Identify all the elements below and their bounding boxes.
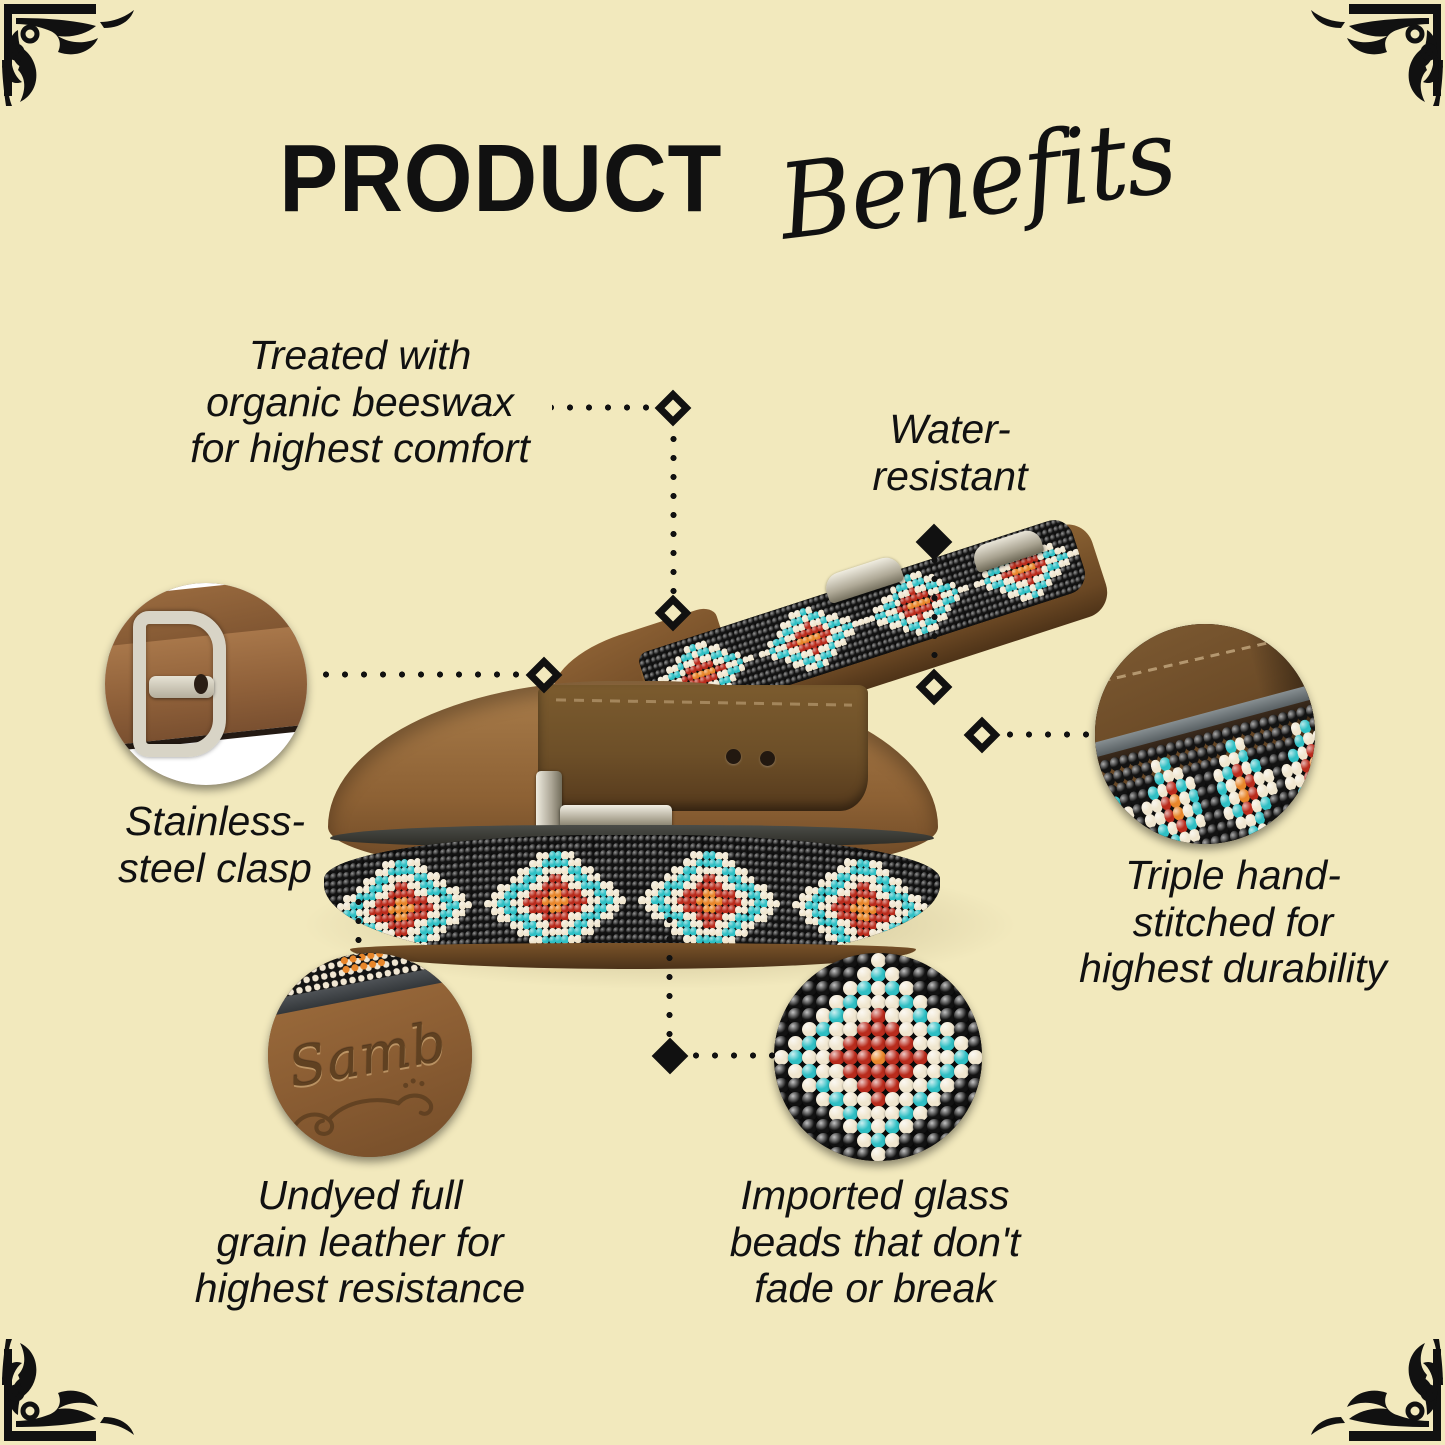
glass-bead: [829, 1092, 844, 1107]
glass-bead: [774, 1022, 789, 1037]
glass-bead: [927, 1133, 942, 1148]
glass-bead: [954, 981, 969, 996]
glass-bead: [843, 1036, 858, 1051]
glass-bead: [968, 1119, 982, 1134]
glass-bead: [857, 967, 872, 982]
glass-bead: [954, 953, 969, 968]
glass-bead: [829, 1133, 844, 1148]
glass-bead: [829, 1064, 844, 1079]
glass-bead: [940, 981, 955, 996]
glass-bead: [885, 995, 900, 1010]
glass-bead: [843, 1119, 858, 1134]
glass-bead: [968, 1092, 982, 1107]
glass-bead: [913, 1008, 928, 1023]
glass-bead: [857, 1147, 872, 1161]
glass-bead: [954, 1064, 969, 1079]
glass-bead: [913, 953, 928, 968]
glass-bead: [774, 981, 789, 996]
glass-bead: [871, 1119, 886, 1134]
glass-bead: [885, 1022, 900, 1037]
glass-bead: [802, 1008, 817, 1023]
glass-bead: [954, 967, 969, 982]
glass-bead: [954, 1078, 969, 1093]
glass-bead: [913, 1050, 928, 1065]
glass-bead: [968, 1022, 982, 1037]
glass-bead: [954, 1022, 969, 1037]
glass-bead: [913, 1147, 928, 1161]
glass-bead: [954, 1008, 969, 1023]
glass-bead: [968, 1147, 982, 1161]
glass-bead: [940, 1022, 955, 1037]
glass-bead: [968, 1106, 982, 1121]
glass-bead: [774, 967, 789, 982]
glass-bead: [774, 1064, 789, 1079]
glass-bead: [899, 1119, 914, 1134]
glass-bead: [843, 1022, 858, 1037]
glass-bead: [927, 995, 942, 1010]
glass-bead: [802, 1036, 817, 1051]
glass-bead: [871, 1106, 886, 1121]
glass-bead: [899, 1022, 914, 1037]
collar-lower-punch-hole: [726, 749, 741, 764]
glass-bead: [927, 1106, 942, 1121]
callout-beeswax: Treated with organic beeswax for highest…: [150, 332, 570, 472]
glass-bead: [816, 1050, 831, 1065]
glass-bead: [885, 1036, 900, 1051]
glass-bead: [843, 1008, 858, 1023]
glass-bead: [802, 981, 817, 996]
glass-bead: [871, 1133, 886, 1148]
glass-bead: [816, 1119, 831, 1134]
glass-bead: [885, 1147, 900, 1161]
glass-bead: [954, 1036, 969, 1051]
glass-bead: [913, 1036, 928, 1051]
glass-bead: [954, 1092, 969, 1107]
glass-bead: [899, 1050, 914, 1065]
glass-bead: [802, 995, 817, 1010]
glass-bead: [802, 1106, 817, 1121]
glass-bead: [940, 995, 955, 1010]
glass-bead: [857, 1050, 872, 1065]
glass-bead: [843, 953, 858, 968]
glass-bead: [871, 981, 886, 996]
glass-bead: [871, 967, 886, 982]
page-title-script: Benefits: [772, 94, 1180, 263]
glass-bead: [843, 981, 858, 996]
glass-bead: [927, 1078, 942, 1093]
glass-bead: [788, 1133, 803, 1148]
glass-bead: [816, 1064, 831, 1079]
glass-bead: [885, 1133, 900, 1148]
glass-bead: [871, 1022, 886, 1037]
glass-bead: [899, 1106, 914, 1121]
glass-bead: [885, 1092, 900, 1107]
glass-bead: [940, 1078, 955, 1093]
connector-clasp-horizontal: [310, 671, 532, 678]
glass-bead: [913, 967, 928, 982]
callout-imported-glass-beads: Imported glass beads that don't fade or …: [690, 1172, 1060, 1312]
glass-bead: [927, 1008, 942, 1023]
glass-bead: [843, 1092, 858, 1107]
glass-bead: [871, 1036, 886, 1051]
glass-bead: [857, 1106, 872, 1121]
glass-bead: [829, 1022, 844, 1037]
glass-bead: [843, 1147, 858, 1161]
glass-bead: [802, 1147, 817, 1161]
glass-bead: [871, 1050, 886, 1065]
glass-bead: [774, 1036, 789, 1051]
glass-bead: [816, 1106, 831, 1121]
glass-bead: [940, 1133, 955, 1148]
glass-bead: [802, 953, 817, 968]
glass-bead: [885, 953, 900, 968]
glass-bead: [913, 1078, 928, 1093]
glass-bead: [816, 1022, 831, 1037]
glass-bead: [788, 1092, 803, 1107]
callout-full-grain-leather: Undyed full grain leather for highest re…: [150, 1172, 570, 1312]
glass-bead: [968, 981, 982, 996]
glass-bead: [788, 1050, 803, 1065]
glass-bead: [816, 981, 831, 996]
inset-hand-stitching-closeup: [1095, 624, 1315, 844]
glass-bead: [788, 967, 803, 982]
glass-bead: [899, 1147, 914, 1161]
glass-bead: [968, 1064, 982, 1079]
collar-lower-buckle-keeper: [536, 771, 562, 833]
page-title-primary: PRODUCT: [279, 124, 722, 234]
glass-bead: [899, 981, 914, 996]
glass-bead: [774, 1119, 789, 1134]
glass-bead: [885, 1119, 900, 1134]
glass-bead: [913, 1064, 928, 1079]
glass-bead: [927, 1036, 942, 1051]
glass-bead: [829, 1119, 844, 1134]
glass-bead: [788, 1106, 803, 1121]
glass-bead: [968, 1050, 982, 1065]
glass-bead: [829, 1147, 844, 1161]
glass-bead: [913, 1022, 928, 1037]
glass-bead: [857, 1133, 872, 1148]
glass-bead: [885, 1064, 900, 1079]
glass-bead: [968, 953, 982, 968]
glass-bead: [829, 1008, 844, 1023]
glass-bead: [843, 1064, 858, 1079]
glass-bead: [843, 967, 858, 982]
glass-bead: [816, 1133, 831, 1148]
glass-bead: [968, 995, 982, 1010]
connector-beeswax-vertical: [670, 424, 677, 606]
glass-bead: [802, 1078, 817, 1093]
glass-bead: [927, 1119, 942, 1134]
glass-bead: [857, 1064, 872, 1079]
callout-stainless-clasp: Stainless- steel clasp: [70, 798, 360, 891]
glass-bead: [940, 1064, 955, 1079]
glass-bead: [774, 953, 789, 968]
glass-bead: [829, 981, 844, 996]
glass-bead: [857, 981, 872, 996]
glass-bead: [802, 1064, 817, 1079]
glass-bead: [954, 1050, 969, 1065]
glass-bead: [871, 1078, 886, 1093]
glass-bead: [899, 967, 914, 982]
glass-bead: [885, 1008, 900, 1023]
connector-water-resistant-vertical: [931, 558, 938, 676]
connector-leather-vertical: [355, 884, 362, 958]
page-title: PRODUCTBenefits: [0, 118, 1445, 240]
glass-bead: [816, 953, 831, 968]
glass-bead: [788, 1022, 803, 1037]
glass-bead: [913, 981, 928, 996]
glass-bead: [843, 995, 858, 1010]
glass-bead: [899, 995, 914, 1010]
glass-bead: [857, 1008, 872, 1023]
glass-bead: [871, 1092, 886, 1107]
glass-bead: [940, 1119, 955, 1134]
glass-bead: [899, 1064, 914, 1079]
glass-bead: [802, 1119, 817, 1134]
glass-bead: [843, 1078, 858, 1093]
glass-bead: [788, 1078, 803, 1093]
glass-bead: [954, 1147, 969, 1161]
glass-bead: [774, 1106, 789, 1121]
glass-bead: [927, 1022, 942, 1037]
glass-bead: [885, 1106, 900, 1121]
inset-glass-beads-closeup: [774, 953, 982, 1161]
glass-bead: [788, 1147, 803, 1161]
glass-bead: [802, 1092, 817, 1107]
glass-bead: [927, 1064, 942, 1079]
glass-bead: [899, 1078, 914, 1093]
glass-bead: [802, 1133, 817, 1148]
glass-bead: [843, 1133, 858, 1148]
glass-bead: [802, 1022, 817, 1037]
glass-bead: [871, 995, 886, 1010]
glass-bead: [927, 1050, 942, 1065]
glass-bead: [788, 1119, 803, 1134]
glass-bead: [788, 1064, 803, 1079]
diamond-marker-beads: [652, 1038, 689, 1075]
inset-embossed-leather-logo: Samb: [268, 953, 472, 1157]
glass-bead: [913, 995, 928, 1010]
glass-bead: [857, 995, 872, 1010]
glass-bead: [774, 1147, 789, 1161]
corner-flourish-ornament-bottom-right: [1285, 1285, 1445, 1445]
diamond-marker-beeswax: [655, 390, 692, 427]
glass-bead: [899, 953, 914, 968]
glass-bead: [954, 995, 969, 1010]
glass-bead: [927, 1092, 942, 1107]
glass-bead: [774, 1133, 789, 1148]
callout-triple-stitched: Triple hand- stitched for highest durabi…: [1058, 852, 1408, 992]
glass-bead: [927, 953, 942, 968]
glass-bead: [954, 1119, 969, 1134]
connector-beads-horizontal: [688, 1052, 780, 1059]
connector-beads-vertical: [666, 908, 673, 1046]
glass-bead: [788, 953, 803, 968]
connector-stitched-horizontal: [999, 731, 1097, 738]
glass-bead: [899, 1036, 914, 1051]
glass-bead: [913, 1092, 928, 1107]
corner-flourish-ornament-bottom-left: [0, 1285, 160, 1445]
glass-bead: [940, 1106, 955, 1121]
glass-bead: [968, 1036, 982, 1051]
glass-bead: [899, 1092, 914, 1107]
glass-bead: [829, 1036, 844, 1051]
glass-bead: [857, 1022, 872, 1037]
glass-bead: [816, 1092, 831, 1107]
collar-lower: [310, 675, 950, 975]
glass-bead: [913, 1106, 928, 1121]
product-photo-beaded-dog-collar: [300, 555, 1140, 975]
glass-bead: [774, 995, 789, 1010]
glass-bead: [885, 1078, 900, 1093]
glass-bead: [927, 981, 942, 996]
glass-bead: [829, 1106, 844, 1121]
collar-lower-punch-hole: [760, 751, 775, 766]
glass-bead: [940, 1036, 955, 1051]
glass-bead: [871, 1147, 886, 1161]
glass-bead: [968, 1133, 982, 1148]
glass-bead: [885, 967, 900, 982]
glass-bead: [885, 1050, 900, 1065]
glass-bead: [829, 953, 844, 968]
glass-bead: [788, 1008, 803, 1023]
glass-bead: [774, 1078, 789, 1093]
glass-bead: [968, 967, 982, 982]
glass-bead: [871, 1064, 886, 1079]
glass-bead: [968, 1078, 982, 1093]
glass-bead: [843, 1106, 858, 1121]
glass-bead: [940, 1092, 955, 1107]
glass-bead: [954, 1106, 969, 1121]
glass-bead: [857, 953, 872, 968]
glass-bead: [940, 1147, 955, 1161]
callout-water-resistant: Water- resistant: [800, 406, 1100, 499]
glass-bead: [788, 995, 803, 1010]
glass-bead: [913, 1133, 928, 1148]
glass-bead: [940, 1050, 955, 1065]
glass-bead: [940, 953, 955, 968]
glass-bead: [816, 1078, 831, 1093]
glass-bead: [802, 967, 817, 982]
glass-bead: [816, 995, 831, 1010]
glass-bead: [968, 1008, 982, 1023]
glass-bead: [788, 1036, 803, 1051]
glass-bead: [857, 1092, 872, 1107]
glass-bead: [954, 1133, 969, 1148]
inset-stainless-steel-clasp: [105, 583, 307, 785]
glass-bead: [927, 967, 942, 982]
glass-bead: [829, 1078, 844, 1093]
glass-bead: [816, 967, 831, 982]
glass-bead: [885, 981, 900, 996]
glass-bead: [940, 1008, 955, 1023]
glass-bead: [774, 1092, 789, 1107]
glass-bead: [802, 1050, 817, 1065]
glass-bead: [829, 1050, 844, 1065]
glass-bead: [871, 953, 886, 968]
glass-bead: [829, 967, 844, 982]
glass-bead: [774, 1008, 789, 1023]
glass-bead: [899, 1133, 914, 1148]
glass-bead: [913, 1119, 928, 1134]
glass-bead: [899, 1008, 914, 1023]
glass-bead: [940, 967, 955, 982]
glass-bead: [927, 1147, 942, 1161]
glass-bead: [829, 995, 844, 1010]
glass-bead: [843, 1050, 858, 1065]
glass-bead: [788, 981, 803, 996]
glass-bead: [816, 1008, 831, 1023]
glass-bead: [857, 1036, 872, 1051]
glass-bead: [857, 1119, 872, 1134]
glass-bead: [816, 1147, 831, 1161]
glass-bead: [857, 1078, 872, 1093]
glass-bead: [816, 1036, 831, 1051]
glass-bead: [871, 1008, 886, 1023]
